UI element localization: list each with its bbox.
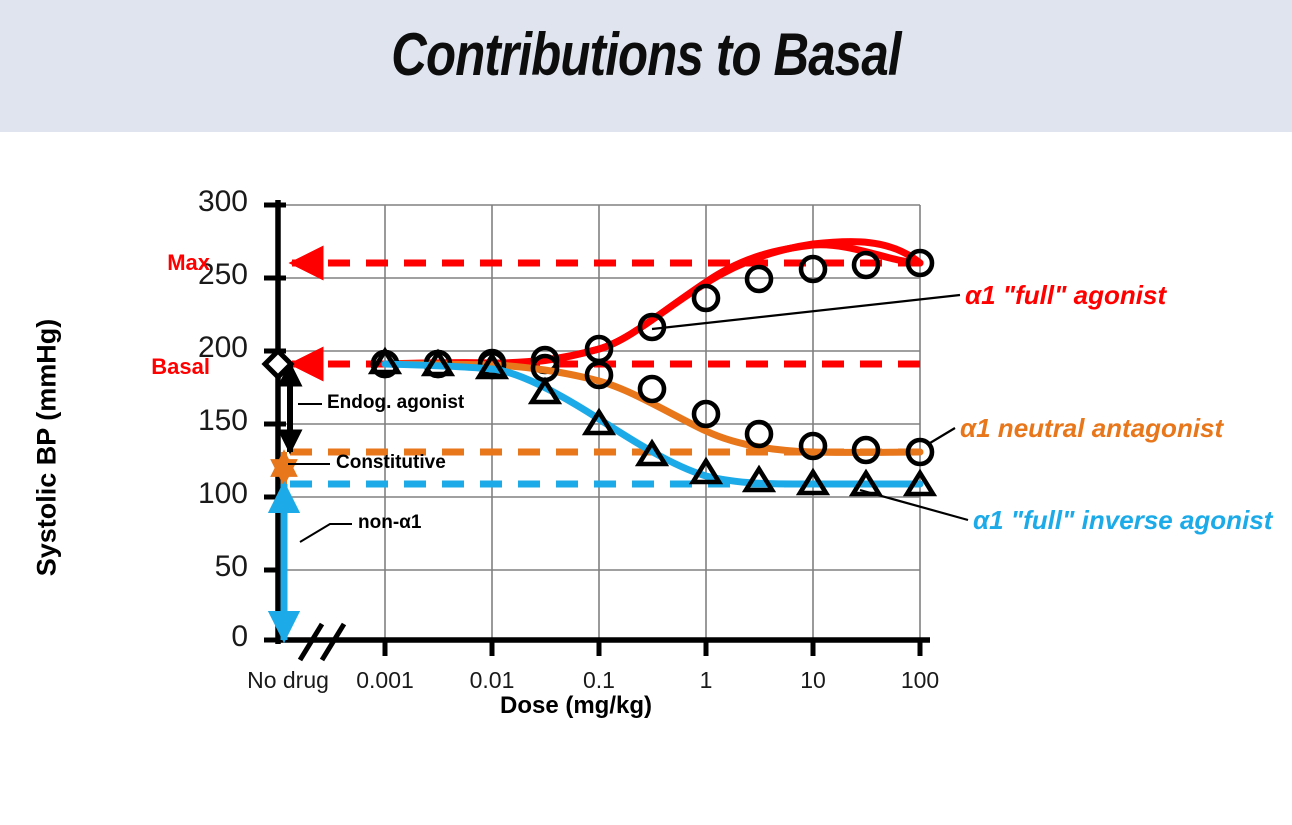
series-label-alpha1-full-inverse-agonist: α1 "full" inverse agonist bbox=[973, 505, 1272, 536]
nonalpha1-annotation: non-α1 bbox=[358, 512, 421, 534]
x-tick-label-0.001: 0.001 bbox=[325, 667, 445, 694]
x-tick-label-0.01: 0.01 bbox=[437, 667, 547, 694]
y-tick-label-300: 300 bbox=[178, 185, 248, 219]
series-alpha1-full-agonist-markers bbox=[373, 251, 932, 376]
max-reference-label: Max bbox=[100, 250, 210, 276]
basal-reference-label: Basal bbox=[100, 354, 210, 380]
title-bar: Contributions to Basal bbox=[0, 0, 1292, 132]
page-title: Contributions to Basal bbox=[116, 20, 1175, 89]
x-tick-label-1: 1 bbox=[661, 667, 751, 694]
x-tick-label-10: 10 bbox=[763, 667, 863, 694]
x-tick-label-0.1: 0.1 bbox=[549, 667, 649, 694]
x-tick-label-100: 100 bbox=[866, 667, 974, 694]
series-alpha1-full-inverse-agonist-markers bbox=[372, 351, 933, 494]
y-tick-label-100: 100 bbox=[178, 477, 248, 511]
y-tick-label-50: 50 bbox=[178, 550, 248, 584]
y-axis-title: Systolic BP (mmHg) bbox=[32, 283, 63, 613]
endog-agonist-annotation: Endog. agonist bbox=[327, 392, 464, 414]
y-tick-label-0: 0 bbox=[178, 620, 248, 654]
series-label-alpha1-full-agonist: α1 "full" agonist bbox=[965, 280, 1166, 311]
constitutive-annotation: Constitutive bbox=[336, 452, 446, 474]
y-tick-label-150: 150 bbox=[178, 404, 248, 438]
chart-figure: Systolic BP (mmHg) Dose (mg/kg) 300 250 … bbox=[0, 132, 1292, 825]
x-axis-title: Dose (mg/kg) bbox=[396, 692, 756, 720]
series-label-alpha1-neutral-antagonist: α1 neutral antagonist bbox=[960, 413, 1223, 444]
